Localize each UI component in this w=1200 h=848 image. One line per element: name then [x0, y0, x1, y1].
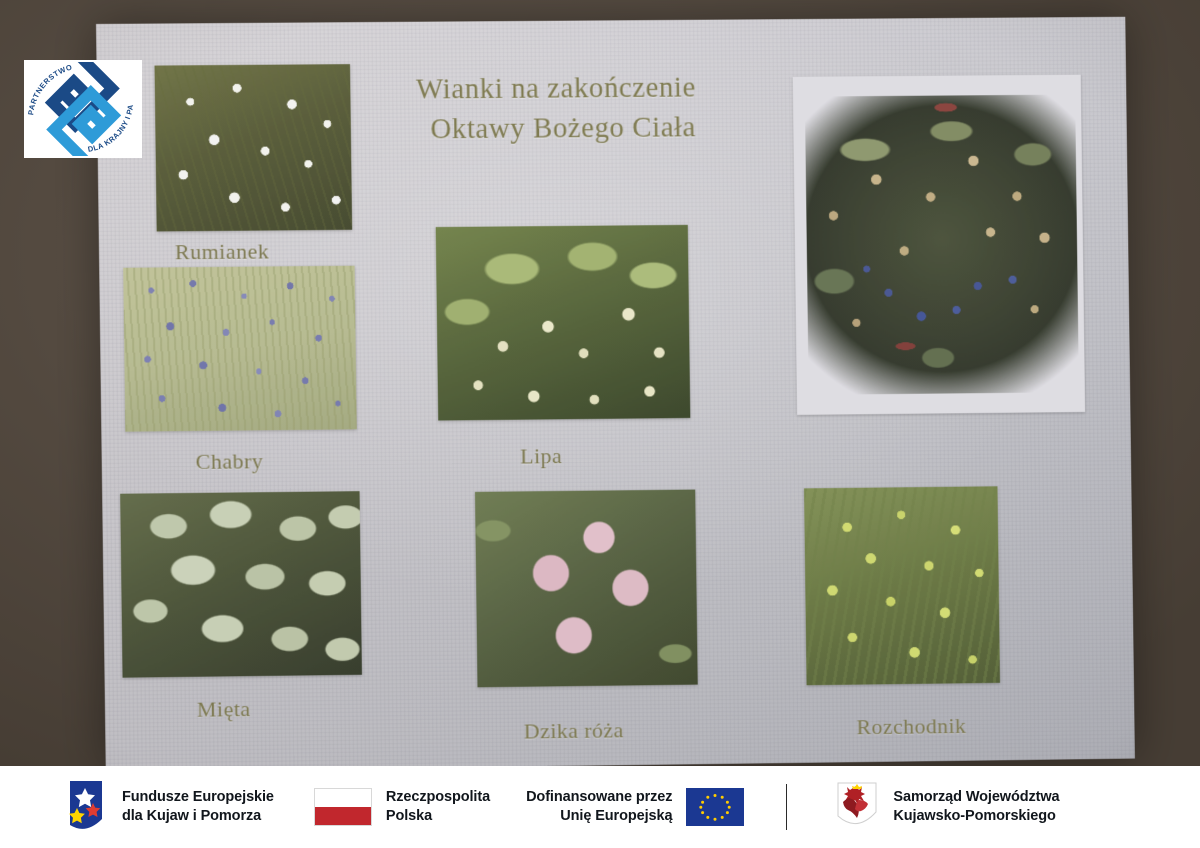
partnerstwo-dla-krajny-i-paluk-logo: PARTNERSTWO DLA KRAJNY I PAŁUK [24, 60, 142, 158]
footer-item-fundusze-europejskie: Fundusze Europejskie dla Kujaw i Pomorza [62, 779, 274, 835]
photo-chabry [123, 266, 357, 432]
mint-leaves-image [120, 491, 362, 678]
fe-line-2: dla Kujaw i Pomorza [122, 807, 274, 826]
footer-text-dofinansowane-ue: Dofinansowane przez Unię Europejską [526, 788, 672, 827]
slide-title: Wianki na zakończenie Oktawy Bożego Ciał… [416, 67, 833, 150]
sw-line-2: Kujawsko-Pomorskiego [893, 807, 1059, 826]
ue-line-1: Dofinansowane przez [526, 788, 672, 807]
footer-item-dofinansowane-ue: Dofinansowane przez Unię Europejską [526, 788, 744, 827]
footer-text-samorzad-wojewodztwa: Samorząd Województwa Kujawsko-Pomorskieg… [893, 788, 1059, 827]
wild-rose-image [475, 490, 698, 688]
photo-wianek [793, 75, 1085, 415]
eu-funding-footer-bar: Fundusze Europejskie dla Kujaw i Pomorza… [0, 766, 1200, 848]
photo-rozchodnik [804, 486, 1000, 685]
caption-rumianek: Rumianek [175, 238, 270, 265]
photo-dzika-roza [475, 490, 698, 688]
pl-line-2: Polska [386, 807, 490, 826]
partnership-spiral-icon: PARTNERSTWO DLA KRAJNY I PAŁUK [27, 62, 139, 156]
ue-line-2: Unię Europejską [526, 807, 672, 826]
caption-chabry: Chabry [195, 448, 263, 475]
caption-dzika-roza: Dzika róża [524, 717, 624, 744]
photo-rumianek [155, 64, 353, 231]
screenshot-stage: Wianki na zakończenie Oktawy Bożego Ciał… [0, 0, 1200, 848]
footer-text-rzeczpospolita-polska: Rzeczpospolita Polska [386, 788, 490, 827]
cornflower-field-image [123, 266, 357, 432]
footer-item-samorzad-wojewodztwa: Samorząd Województwa Kujawsko-Pomorskieg… [835, 780, 1059, 834]
poland-flag-icon [314, 788, 372, 826]
caption-lipa: Lipa [520, 443, 562, 469]
footer-text-fundusze-europejskie: Fundusze Europejskie dla Kujaw i Pomorza [122, 788, 274, 827]
footer-divider [786, 784, 787, 830]
pl-line-1: Rzeczpospolita [386, 788, 490, 807]
projected-slide: Wianki na zakończenie Oktawy Bożego Ciał… [96, 17, 1135, 772]
photo-mieta [120, 491, 362, 678]
slide-content: Wianki na zakończenie Oktawy Bożego Ciał… [96, 17, 1135, 772]
caption-rozchodnik: Rozchodnik [856, 713, 966, 740]
eu-funds-star-icon [62, 779, 108, 835]
footer-item-rzeczpospolita-polska: Rzeczpospolita Polska [314, 788, 490, 827]
european-union-flag-icon [686, 788, 744, 826]
sw-line-1: Samorząd Województwa [893, 788, 1059, 807]
slide-title-line-2: Oktawy Bożego Ciała [416, 106, 833, 149]
fe-line-1: Fundusze Europejskie [122, 788, 274, 807]
linden-blossom-image [436, 225, 691, 421]
caption-mieta: Mięta [197, 696, 251, 723]
slide-title-line-1: Wianki na zakończenie [416, 72, 696, 106]
photo-lipa [436, 225, 691, 421]
stonecrop-image [804, 486, 1000, 685]
herb-wreath-bouquet-image [805, 95, 1080, 395]
kujawsko-pomorskie-coat-of-arms-icon [835, 780, 879, 834]
chamomile-field-image [155, 64, 353, 231]
